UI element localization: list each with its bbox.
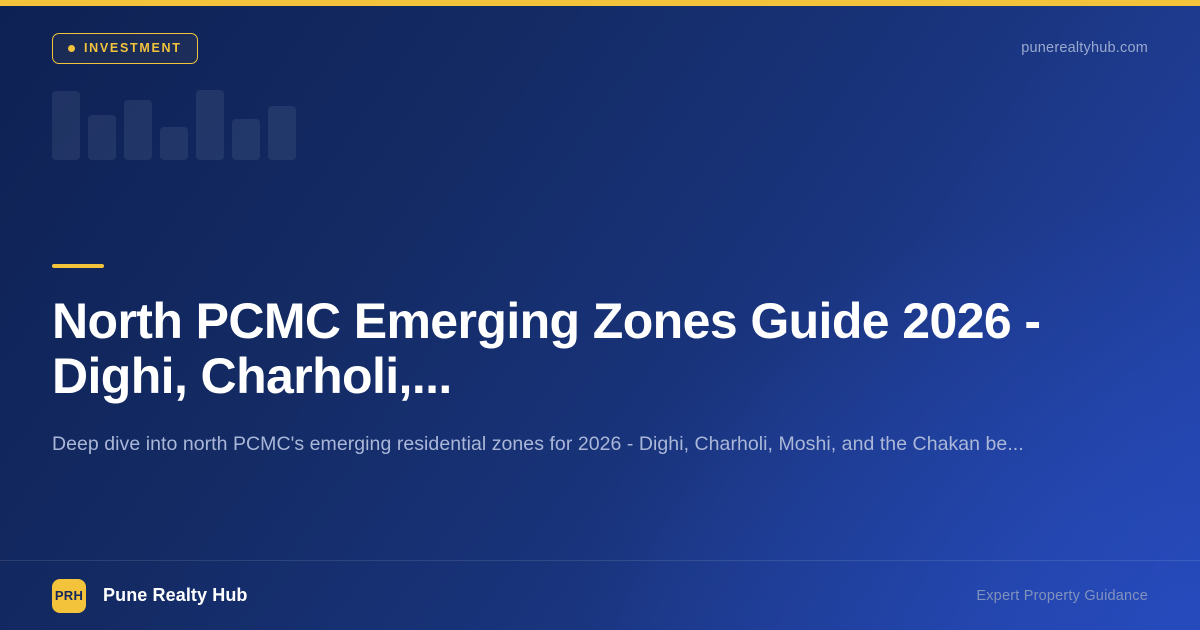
graphic-bar: [52, 91, 80, 160]
title-accent-rule: [52, 264, 104, 268]
page-subtitle: Deep dive into north PCMC's emerging res…: [52, 431, 1092, 457]
graphic-bar: [232, 119, 260, 160]
footer-tagline: Expert Property Guidance: [976, 588, 1148, 604]
graphic-bar: [88, 115, 116, 160]
dot-icon: [68, 45, 75, 52]
site-url: punerealtyhub.com: [1021, 40, 1148, 56]
graphic-bar: [160, 127, 188, 160]
main-content: North PCMC Emerging Zones Guide 2026 - D…: [52, 264, 1152, 457]
top-accent-strip: [0, 0, 1200, 6]
og-share-card: INVESTMENT punerealtyhub.com North PCMC …: [0, 0, 1200, 630]
graphic-bar: [268, 106, 296, 160]
category-badge-label: INVESTMENT: [84, 41, 182, 55]
category-badge: INVESTMENT: [52, 33, 198, 64]
brand-name: Pune Realty Hub: [103, 585, 248, 606]
card-header: INVESTMENT punerealtyhub.com: [52, 32, 1148, 64]
brand-logo-icon: PRH: [52, 579, 86, 613]
graphic-bar: [196, 90, 224, 160]
page-title: North PCMC Emerging Zones Guide 2026 - D…: [52, 294, 1148, 404]
bar-chart-graphic: [52, 76, 312, 160]
brand-lockup: PRH Pune Realty Hub: [52, 579, 248, 613]
card-footer: PRH Pune Realty Hub Expert Property Guid…: [52, 561, 1148, 630]
graphic-bar: [124, 100, 152, 160]
